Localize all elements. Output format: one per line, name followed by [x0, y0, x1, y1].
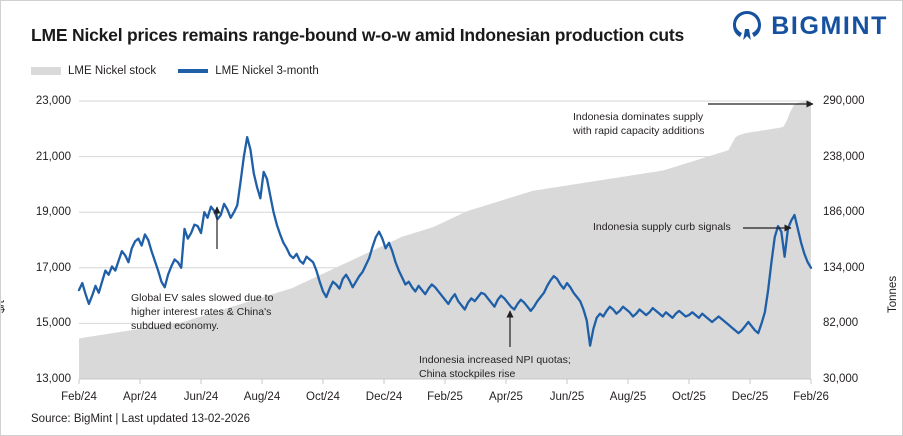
y-tick-left: 19,000	[1, 206, 71, 218]
x-tick: Jun/25	[550, 391, 585, 403]
y-tick-left: 15,000	[1, 317, 71, 329]
x-tick: Apr/24	[123, 391, 157, 403]
brand-name: BIGMINT	[771, 14, 888, 39]
x-tick: Aug/24	[244, 391, 280, 403]
x-tick: Oct/25	[672, 391, 706, 403]
y-tick-right: 82,000	[823, 317, 858, 329]
legend-item-price[interactable]: LME Nickel 3-month	[178, 65, 319, 77]
x-tick: Aug/25	[610, 391, 646, 403]
legend-label-stock: LME Nickel stock	[68, 65, 156, 77]
y-axis-title-left: $/t	[0, 300, 7, 313]
x-tick: Oct/24	[306, 391, 340, 403]
y-axis-title-right: Tonnes	[887, 276, 899, 313]
annotation-indonesia-supply: Indonesia dominates supply with rapid ca…	[573, 111, 704, 139]
x-tick: Apr/25	[489, 391, 523, 403]
bigmint-emblem-icon	[730, 9, 764, 43]
x-tick: Feb/26	[793, 391, 829, 403]
source-note: Source: BigMint | Last updated 13-02-202…	[31, 413, 250, 425]
y-tick-left: 23,000	[1, 95, 71, 107]
annotation-npi-quotas: Indonesia increased NPI quotas; China st…	[419, 354, 571, 382]
y-tick-left: 21,000	[1, 151, 71, 163]
plot-area: $/t Tonnes 13,00015,00017,00019,00021,00…	[1, 89, 903, 389]
page-title: LME Nickel prices remains range-bound w-…	[31, 25, 684, 46]
chart-legend: LME Nickel stock LME Nickel 3-month	[31, 65, 319, 77]
annotation-supply-curb: Indonesia supply curb signals	[593, 221, 731, 235]
legend-swatch-area	[31, 67, 61, 75]
y-tick-right: 134,000	[823, 262, 865, 274]
legend-swatch-line	[178, 69, 208, 73]
chart-canvas	[1, 89, 903, 389]
x-tick: Feb/24	[61, 391, 97, 403]
y-tick-right: 290,000	[823, 95, 865, 107]
annotation-ev-sales: Global EV sales slowed due to higher int…	[131, 292, 273, 334]
x-tick: Dec/25	[732, 391, 768, 403]
x-tick: Dec/24	[366, 391, 402, 403]
brand-logo: BIGMINT	[730, 9, 888, 43]
x-tick: Feb/25	[427, 391, 463, 403]
y-tick-left: 17,000	[1, 262, 71, 274]
y-tick-right: 30,000	[823, 373, 858, 385]
legend-item-stock[interactable]: LME Nickel stock	[31, 65, 156, 77]
x-tick: Jun/24	[184, 391, 219, 403]
chart-page: LME Nickel prices remains range-bound w-…	[0, 0, 903, 436]
y-tick-left: 13,000	[1, 373, 71, 385]
y-tick-right: 238,000	[823, 151, 865, 163]
legend-label-price: LME Nickel 3-month	[215, 65, 319, 77]
y-tick-right: 186,000	[823, 206, 865, 218]
